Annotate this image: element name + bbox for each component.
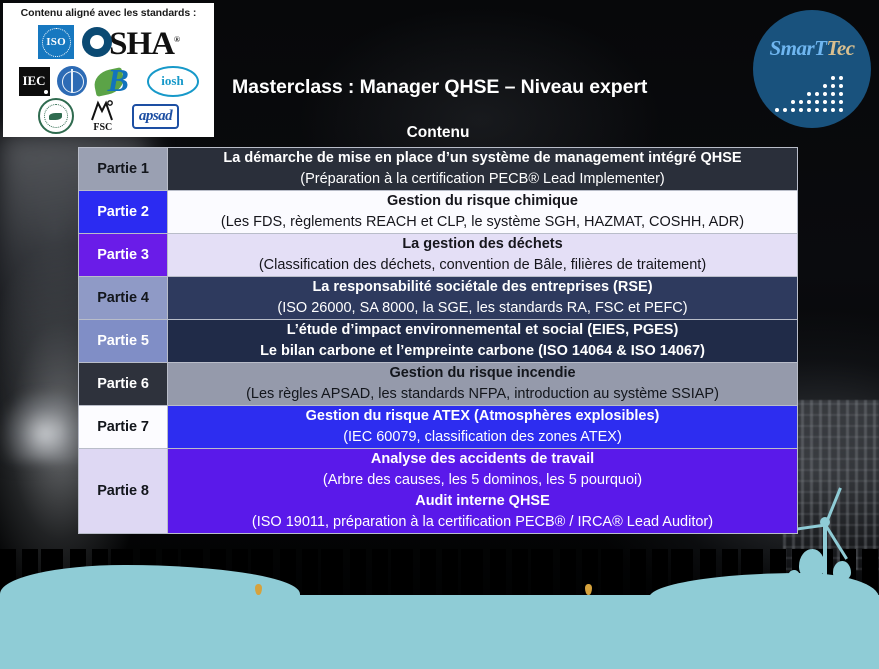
iec-logo: IEC [19, 67, 50, 96]
content-line: (Les règles APSAD, les standards NFPA, i… [168, 384, 797, 405]
wind-turbine-icon [795, 502, 855, 597]
content-line: L’étude d’impact environnemental et soci… [168, 320, 797, 341]
tree-icon-1 [810, 569, 814, 595]
part-content-cell: La gestion des déchets(Classification de… [168, 234, 798, 277]
standards-card-title: Contenu aligné avec les standards : [8, 7, 209, 20]
part-label-cell: Partie 1 [79, 148, 168, 191]
part-label-cell: Partie 2 [79, 191, 168, 234]
content-line: Le bilan carbone et l’empreinte carbone … [168, 341, 797, 362]
content-line: (ISO 26000, SA 8000, la SGE, les standar… [168, 298, 797, 319]
content-line: (IEC 60079, classification des zones ATE… [168, 427, 797, 448]
part-label-cell: Partie 8 [79, 449, 168, 534]
tree-icon-2 [840, 573, 844, 595]
content-line: La démarche de mise en place d’un systèm… [168, 148, 797, 169]
table-row: Partie 5L’étude d’impact environnemental… [79, 320, 798, 363]
tree-icon-3 [792, 577, 795, 595]
part-label-cell: Partie 7 [79, 406, 168, 449]
content-line: (Les FDS, règlements REACH et CLP, le sy… [168, 212, 797, 233]
standards-logo-row-1: ISO SHA® [8, 21, 209, 63]
part-content-cell: Gestion du risque ATEX (Atmosphères expl… [168, 406, 798, 449]
un-globe-logo [57, 66, 87, 96]
content-line: La responsabilité sociétale des entrepri… [168, 277, 797, 298]
table-header-contenu: Contenu [78, 124, 798, 142]
part-content-cell: L’étude d’impact environnemental et soci… [168, 320, 798, 363]
background-water [0, 595, 879, 669]
table-row: Partie 1La démarche de mise en place d’u… [79, 148, 798, 191]
smarttec-logo-text: SmarTTec [753, 36, 871, 61]
content-line: (Arbre des causes, les 5 dominos, les 5 … [168, 470, 797, 491]
table-row: Partie 8Analyse des accidents de travail… [79, 449, 798, 534]
smarttec-logo: SmarTTec [753, 10, 871, 128]
table-row: Partie 4La responsabilité sociétale des … [79, 277, 798, 320]
standards-logo-row-2: IEC B iosh [8, 63, 209, 99]
part-label-cell: Partie 5 [79, 320, 168, 363]
content-line: (ISO 19011, préparation à la certificati… [168, 512, 797, 533]
smarttec-dot-pattern [775, 72, 855, 112]
smarttec-name-part-a: SmarT [769, 36, 826, 60]
green-seal-logo [38, 98, 74, 134]
part-content-cell: La démarche de mise en place d’un systèm… [168, 148, 798, 191]
table-row: Partie 6Gestion du risque incendie(Les r… [79, 363, 798, 406]
page-title: Masterclass : Manager QHSE – Niveau expe… [232, 76, 647, 99]
part-content-cell: Analyse des accidents de travail(Arbre d… [168, 449, 798, 534]
smarttec-name-part-b: Tec [826, 36, 854, 60]
table-row: Partie 3La gestion des déchets(Classific… [79, 234, 798, 277]
osha-logo: SHA® [82, 25, 179, 59]
standards-card: Contenu aligné avec les standards : ISO … [3, 3, 214, 137]
content-line: Analyse des accidents de travail [168, 449, 797, 470]
bsi-logo: B [94, 66, 140, 97]
table-row: Partie 7Gestion du risque ATEX (Atmosphè… [79, 406, 798, 449]
content-line: (Classification des déchets, convention … [168, 255, 797, 276]
content-line: Audit interne QHSE [168, 491, 797, 512]
part-content-cell: Gestion du risque incendie(Les règles AP… [168, 363, 798, 406]
part-label-cell: Partie 6 [79, 363, 168, 406]
content-line: Gestion du risque chimique [168, 191, 797, 212]
part-content-cell: La responsabilité sociétale des entrepri… [168, 277, 798, 320]
content-line: Gestion du risque ATEX (Atmosphères expl… [168, 406, 797, 427]
content-line: La gestion des déchets [168, 234, 797, 255]
background-fire-glow [2, 392, 88, 462]
part-label-cell: Partie 3 [79, 234, 168, 277]
program-table: Partie 1La démarche de mise en place d’u… [78, 147, 798, 534]
content-line: (Préparation à la certification PECB® Le… [168, 169, 797, 190]
table-row: Partie 2Gestion du risque chimique(Les F… [79, 191, 798, 234]
standards-logo-grid: ISO SHA® IEC B iosh [8, 21, 209, 133]
program-table-body: Partie 1La démarche de mise en place d’u… [79, 148, 798, 534]
content-line: Gestion du risque incendie [168, 363, 797, 384]
iosh-logo: iosh [147, 66, 199, 97]
part-label-cell: Partie 4 [79, 277, 168, 320]
part-content-cell: Gestion du risque chimique(Les FDS, règl… [168, 191, 798, 234]
slide-canvas: Contenu aligné avec les standards : ISO … [0, 0, 879, 669]
iso-logo: ISO [38, 25, 74, 59]
